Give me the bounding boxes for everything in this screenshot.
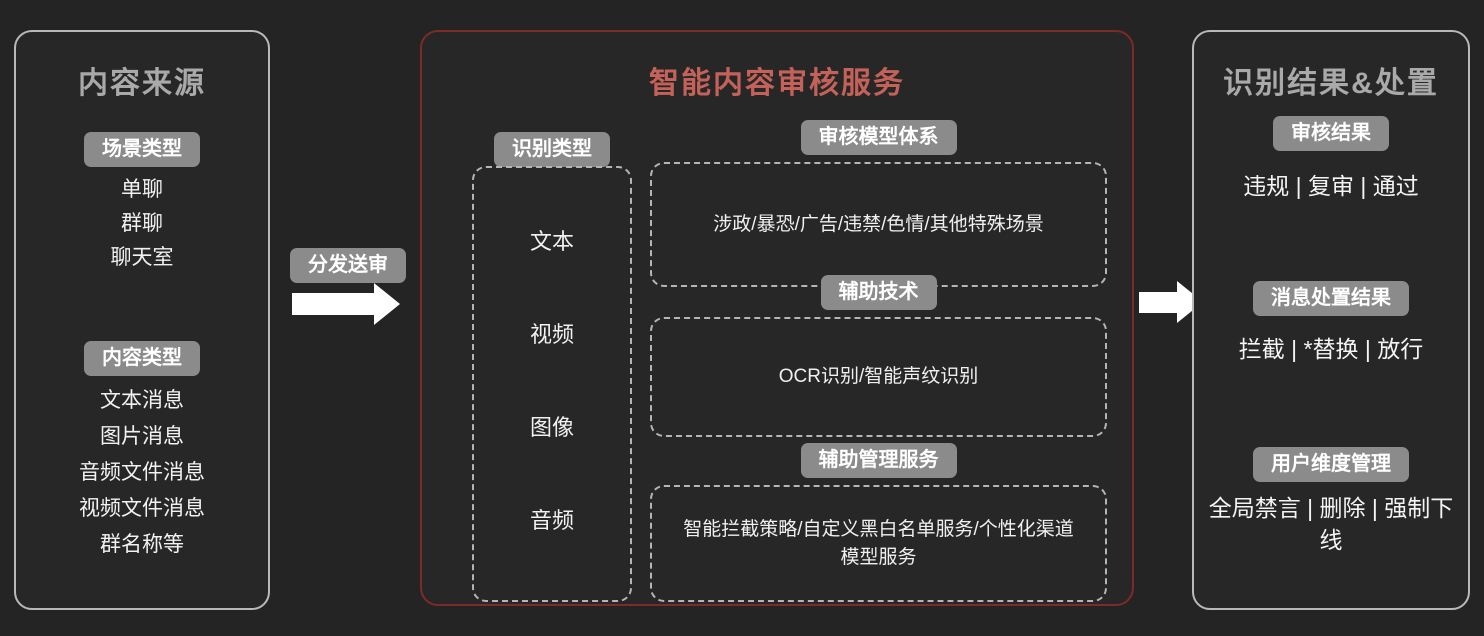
- assist-management-chip-wrap: 辅助管理服务: [650, 443, 1107, 478]
- moderation-service-panel: 智能内容审核服务 识别类型 文本 视频 图像 音频 审核模型体系 涉政/暴恐/广…: [420, 30, 1134, 606]
- review-model-box: 涉政/暴恐/广告/违禁/色情/其他特殊场景: [650, 162, 1107, 287]
- results-panel: 识别结果&处置 审核结果 违规 | 复审 | 通过 消息处置结果 拦截 | *替…: [1192, 30, 1470, 610]
- assist-tech-text: OCR识别/智能声纹识别: [676, 363, 1081, 391]
- review-result-chip-wrap: 审核结果: [1194, 116, 1468, 151]
- review-result-values: 违规 | 复审 | 通过: [1194, 170, 1468, 202]
- user-management-chip[interactable]: 用户维度管理: [1253, 447, 1409, 482]
- scene-type-item-1: 群聊: [16, 206, 268, 241]
- results-panel-title: 识别结果&处置: [1194, 58, 1468, 102]
- content-type-chip-wrap: 内容类型: [16, 341, 268, 376]
- scene-type-chip-wrap: 场景类型: [16, 132, 268, 167]
- recognition-type-box: 文本 视频 图像 音频: [472, 166, 632, 602]
- content-type-item-0: 文本消息: [16, 383, 268, 418]
- content-source-panel: 内容来源 场景类型 单聊 群聊 聊天室 内容类型 文本消息 图片消息 音频文件消…: [14, 30, 270, 610]
- user-management-chip-wrap: 用户维度管理: [1194, 447, 1468, 482]
- distribute-for-review-arrow: 分发送审: [290, 248, 402, 318]
- content-type-chip[interactable]: 内容类型: [84, 341, 200, 376]
- content-type-item-2: 音频文件消息: [16, 455, 268, 490]
- message-action-values: 拦截 | *替换 | 放行: [1194, 333, 1468, 365]
- user-management-values: 全局禁言 | 删除 | 强制下线: [1194, 492, 1468, 556]
- diagram-canvas: 内容来源 场景类型 单聊 群聊 聊天室 内容类型 文本消息 图片消息 音频文件消…: [0, 0, 1484, 636]
- recognition-type-chip-wrap: 识别类型: [472, 132, 632, 167]
- scene-type-item-0: 单聊: [16, 172, 268, 207]
- assist-tech-chip[interactable]: 辅助技术: [821, 275, 937, 310]
- content-type-item-1: 图片消息: [16, 419, 268, 454]
- arrow-head: [374, 283, 400, 325]
- arrow-shaft: [292, 293, 374, 315]
- scene-type-item-2: 聊天室: [16, 240, 268, 275]
- assist-tech-chip-wrap: 辅助技术: [650, 275, 1107, 310]
- recognition-type-item-2: 图像: [474, 410, 630, 442]
- assist-management-box: 智能拦截策略/自定义黑白名单服务/个性化渠道模型服务: [650, 485, 1107, 602]
- assist-management-text: 智能拦截策略/自定义黑白名单服务/个性化渠道模型服务: [676, 516, 1081, 572]
- recognition-type-chip[interactable]: 识别类型: [494, 132, 610, 167]
- review-model-chip-wrap: 审核模型体系: [650, 120, 1107, 155]
- review-model-text: 涉政/暴恐/广告/违禁/色情/其他特殊场景: [676, 211, 1081, 239]
- recognition-type-item-1: 视频: [474, 317, 630, 349]
- scene-type-chip[interactable]: 场景类型: [84, 132, 200, 167]
- review-result-chip[interactable]: 审核结果: [1273, 116, 1389, 151]
- content-source-title: 内容来源: [16, 58, 268, 102]
- assist-tech-box: OCR识别/智能声纹识别: [650, 317, 1107, 437]
- distribute-arrow-label-wrap: 分发送审: [290, 248, 402, 283]
- recognition-type-item-3: 音频: [474, 503, 630, 535]
- arrow-shaft: [1139, 292, 1177, 313]
- message-action-chip-wrap: 消息处置结果: [1194, 281, 1468, 316]
- message-action-chip[interactable]: 消息处置结果: [1253, 281, 1409, 316]
- recognition-type-item-0: 文本: [474, 224, 630, 256]
- assist-management-chip[interactable]: 辅助管理服务: [801, 443, 957, 478]
- review-model-chip[interactable]: 审核模型体系: [801, 120, 957, 155]
- moderation-service-title: 智能内容审核服务: [422, 58, 1132, 102]
- content-type-item-4: 群名称等: [16, 527, 268, 562]
- distribute-arrow-label: 分发送审: [290, 248, 406, 283]
- content-type-item-3: 视频文件消息: [16, 491, 268, 526]
